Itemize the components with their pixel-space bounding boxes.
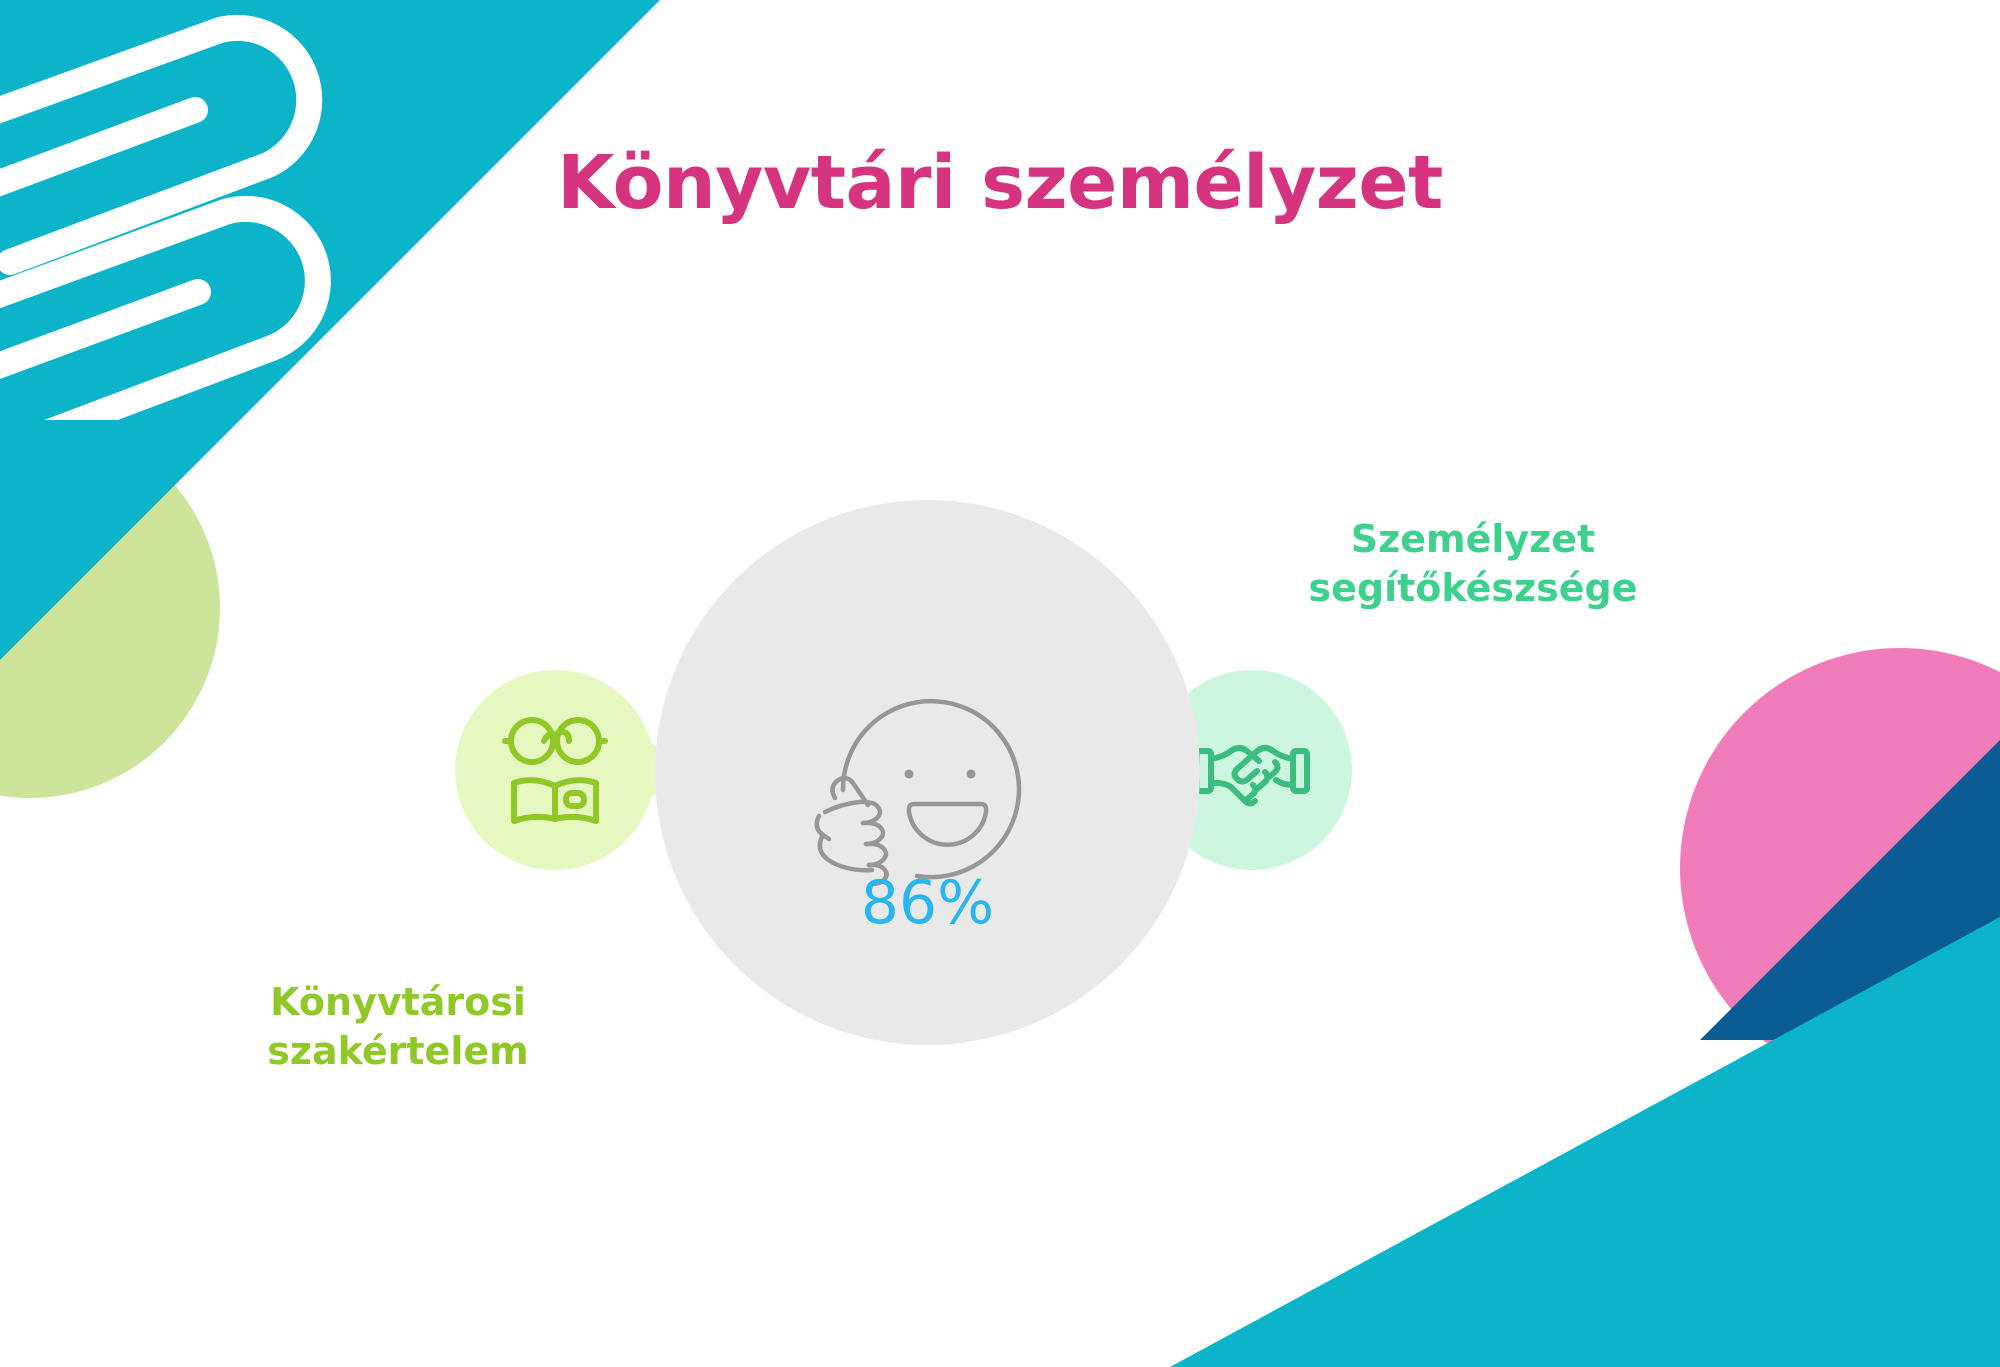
label-line-1: Könyvtárosi — [228, 978, 568, 1027]
label-line-1: Személyzet — [1258, 515, 1688, 564]
page-title: Könyvtári személyzet — [0, 140, 2000, 226]
label-staff-helpfulness: Személyzet segítőkészsége — [1258, 515, 1688, 612]
label-librarian-expertise: Könyvtárosi szakértelem — [228, 978, 568, 1075]
smiley-thumbs-up-icon — [813, 682, 1043, 892]
split-half-circle-decoration — [0, 418, 220, 798]
navy-triangle-decoration — [1700, 740, 2000, 1040]
label-line-2: segítőkészsége — [1258, 564, 1688, 613]
half-circle-lime-part — [0, 418, 220, 798]
handshake-icon — [1189, 707, 1315, 833]
node-librarian-expertise[interactable] — [455, 670, 655, 870]
center-percent-value: 86% — [655, 868, 1200, 938]
glasses-book-icon — [492, 707, 618, 833]
slide-canvas: Könyvtári személyzet — [0, 0, 2000, 1367]
pink-half-circle-decoration — [1680, 648, 2000, 1088]
half-circle-green-part — [0, 418, 220, 798]
center-hub: 86% — [655, 500, 1200, 1045]
cyan-triangle-top-left-decoration — [0, 0, 660, 660]
label-line-2: szakértelem — [228, 1027, 568, 1076]
cyan-triangle-bottom-right-decoration — [1170, 917, 2000, 1367]
